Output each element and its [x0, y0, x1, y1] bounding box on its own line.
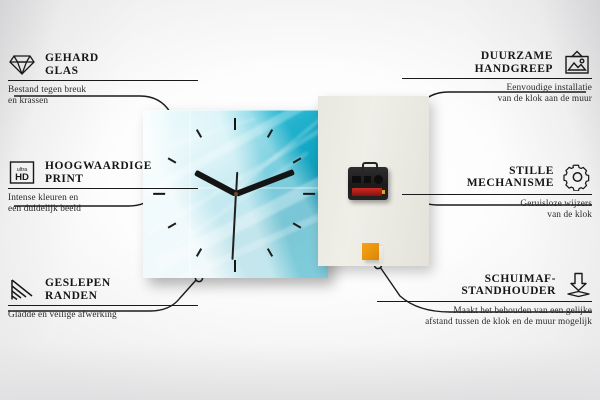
feature-title: HOOGWAARDIGE PRINT	[45, 160, 152, 185]
feature-header: GEHARD GLAS	[8, 52, 198, 77]
divider	[377, 301, 592, 302]
feature-subtitle: Bestand tegen breuk en krassen	[8, 85, 198, 107]
feature-header: DUURZAME HANDGREEP	[402, 50, 592, 75]
divider	[8, 305, 198, 306]
feature-header: SCHUIMAF- STANDHOUDER	[377, 272, 592, 298]
clock-tick-12	[234, 118, 236, 130]
clock-tick-5	[267, 248, 273, 257]
feature-header: ultra HD HOOGWAARDIGE PRINT	[8, 160, 198, 185]
infographic-canvas: GEHARD GLAS Bestand tegen breuk en krass…	[0, 0, 600, 400]
feature-schuimafstandhouder: SCHUIMAF- STANDHOUDER Maakt het behouden…	[377, 272, 592, 328]
press-down-spacer-icon	[565, 272, 592, 298]
feature-subtitle: Eenvoudige installatie van de klok aan d…	[402, 83, 592, 105]
feature-stille-mechanisme: STILLE MECHANISME Geruisloze wijzers van…	[402, 163, 592, 221]
foam-spacer	[362, 243, 379, 260]
clock-mechanism	[348, 167, 388, 200]
divider	[402, 194, 592, 195]
feature-title: SCHUIMAF- STANDHOUDER	[461, 273, 556, 298]
feature-header: GESLEPEN RANDEN	[8, 277, 198, 302]
ultra-hd-icon: ultra HD	[8, 160, 36, 185]
feature-geslepen-randen: GESLEPEN RANDEN Gladde en veilige afwerk…	[8, 277, 198, 321]
feature-title: STILLE MECHANISME	[467, 165, 554, 190]
feature-title: DUURZAME HANDGREEP	[475, 50, 553, 75]
feature-subtitle: Geruisloze wijzers van de klok	[402, 199, 592, 221]
clock-tick-1	[267, 129, 273, 138]
bevelled-edges-icon	[8, 278, 36, 302]
divider	[8, 80, 198, 81]
clock-center-hub	[234, 192, 238, 196]
feature-title: GESLEPEN RANDEN	[45, 277, 111, 302]
svg-text:HD: HD	[15, 172, 29, 183]
feature-gehard-glas: GEHARD GLAS Bestand tegen breuk en krass…	[8, 52, 198, 107]
hanger-hook-icon	[362, 162, 378, 171]
feature-subtitle: Gladde en veilige afwerking	[8, 310, 198, 321]
feature-duurzame-handgreep: DUURZAME HANDGREEP Eenvoudige installati…	[402, 50, 592, 105]
divider	[402, 78, 592, 79]
feature-title: GEHARD GLAS	[45, 52, 99, 77]
divider	[8, 188, 198, 189]
feature-subtitle: Maakt het behouden van een gelijke afsta…	[377, 306, 592, 328]
clock-tick-3	[303, 193, 315, 195]
clock-tick-6	[234, 260, 236, 272]
picture-frame-hanger-icon	[562, 50, 592, 75]
gear-icon	[563, 163, 592, 191]
feature-hoogwaardige-print: ultra HD HOOGWAARDIGE PRINT Intense kleu…	[8, 160, 198, 215]
feature-subtitle: Intense kleuren en een duidelijk beeld	[8, 193, 198, 215]
feature-header: STILLE MECHANISME	[402, 163, 592, 191]
clock-battery	[352, 188, 382, 196]
diamond-icon	[8, 53, 36, 77]
